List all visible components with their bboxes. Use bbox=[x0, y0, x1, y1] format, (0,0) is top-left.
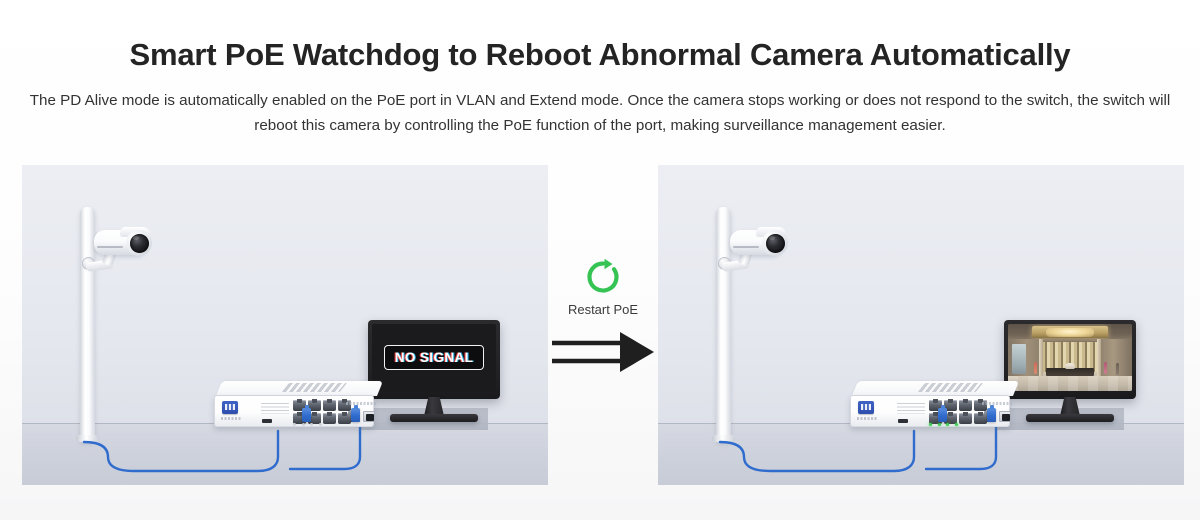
rj45-port[interactable] bbox=[959, 413, 972, 424]
switch-model-label bbox=[857, 417, 877, 420]
brand-logo-badge-icon bbox=[858, 401, 874, 414]
panel-before-state: NO SIGNAL bbox=[22, 165, 548, 485]
rj45-port[interactable] bbox=[959, 400, 972, 411]
double-line-right-arrow-icon bbox=[550, 330, 656, 374]
rj45-port[interactable] bbox=[323, 413, 336, 424]
cable-camera-to-switch bbox=[84, 431, 278, 471]
restart-poe-label: Restart PoE bbox=[548, 302, 658, 317]
header-section: Smart PoE Watchdog to Reboot Abnormal Ca… bbox=[0, 0, 1200, 138]
port-led-active bbox=[929, 423, 932, 426]
cable-switch-to-monitor bbox=[290, 425, 360, 469]
cable-plug-connector bbox=[302, 408, 311, 422]
switch-led-row bbox=[929, 423, 958, 426]
port-led-active bbox=[955, 423, 958, 426]
brand-logo-badge-icon bbox=[222, 401, 238, 414]
page-title: Smart PoE Watchdog to Reboot Abnormal Ca… bbox=[0, 36, 1200, 74]
port-led bbox=[302, 423, 305, 426]
poe-switch-device-right bbox=[850, 381, 1016, 427]
poe-switch-device-left bbox=[214, 381, 380, 427]
panel-after-state bbox=[658, 165, 1184, 485]
switch-legend-text bbox=[261, 403, 289, 414]
cable-plug-connector bbox=[987, 408, 996, 422]
port-led bbox=[319, 423, 322, 426]
switch-top-surface bbox=[852, 381, 1019, 396]
uplink-sfp-port[interactable] bbox=[363, 411, 375, 422]
cable-switch-to-monitor bbox=[926, 425, 996, 469]
port-led-active bbox=[938, 423, 941, 426]
page-subtitle: The PD Alive mode is automatically enabl… bbox=[13, 88, 1187, 138]
refresh-icon-wrap bbox=[548, 257, 658, 302]
switch-brand-text bbox=[918, 383, 983, 392]
switch-legend-text bbox=[897, 403, 925, 414]
port-led bbox=[310, 423, 313, 426]
switch-top-surface bbox=[216, 381, 383, 396]
switch-dip-toggle[interactable] bbox=[898, 419, 908, 423]
ethernet-cable-group-right bbox=[658, 165, 1184, 485]
switch-front-face bbox=[850, 395, 1010, 427]
switch-model-label bbox=[221, 417, 241, 420]
switch-brand-text bbox=[282, 383, 347, 392]
uplink-sfp-port[interactable] bbox=[999, 411, 1011, 422]
refresh-circle-arrow-icon bbox=[583, 257, 623, 297]
port-led-active bbox=[946, 423, 949, 426]
cable-camera-to-switch bbox=[720, 431, 914, 471]
cable-plug-connector bbox=[938, 408, 947, 422]
switch-dip-toggle[interactable] bbox=[262, 419, 272, 423]
rj45-port[interactable] bbox=[323, 400, 336, 411]
transition-indicator: Restart PoE bbox=[548, 165, 658, 485]
ethernet-cable-group-left bbox=[22, 165, 548, 485]
arrow-icon-wrap bbox=[548, 330, 658, 379]
page-root: Smart PoE Watchdog to Reboot Abnormal Ca… bbox=[0, 0, 1200, 520]
cable-plug-connector bbox=[351, 408, 360, 422]
switch-front-face bbox=[214, 395, 374, 427]
port-led bbox=[293, 423, 296, 426]
switch-led-row bbox=[293, 423, 322, 426]
